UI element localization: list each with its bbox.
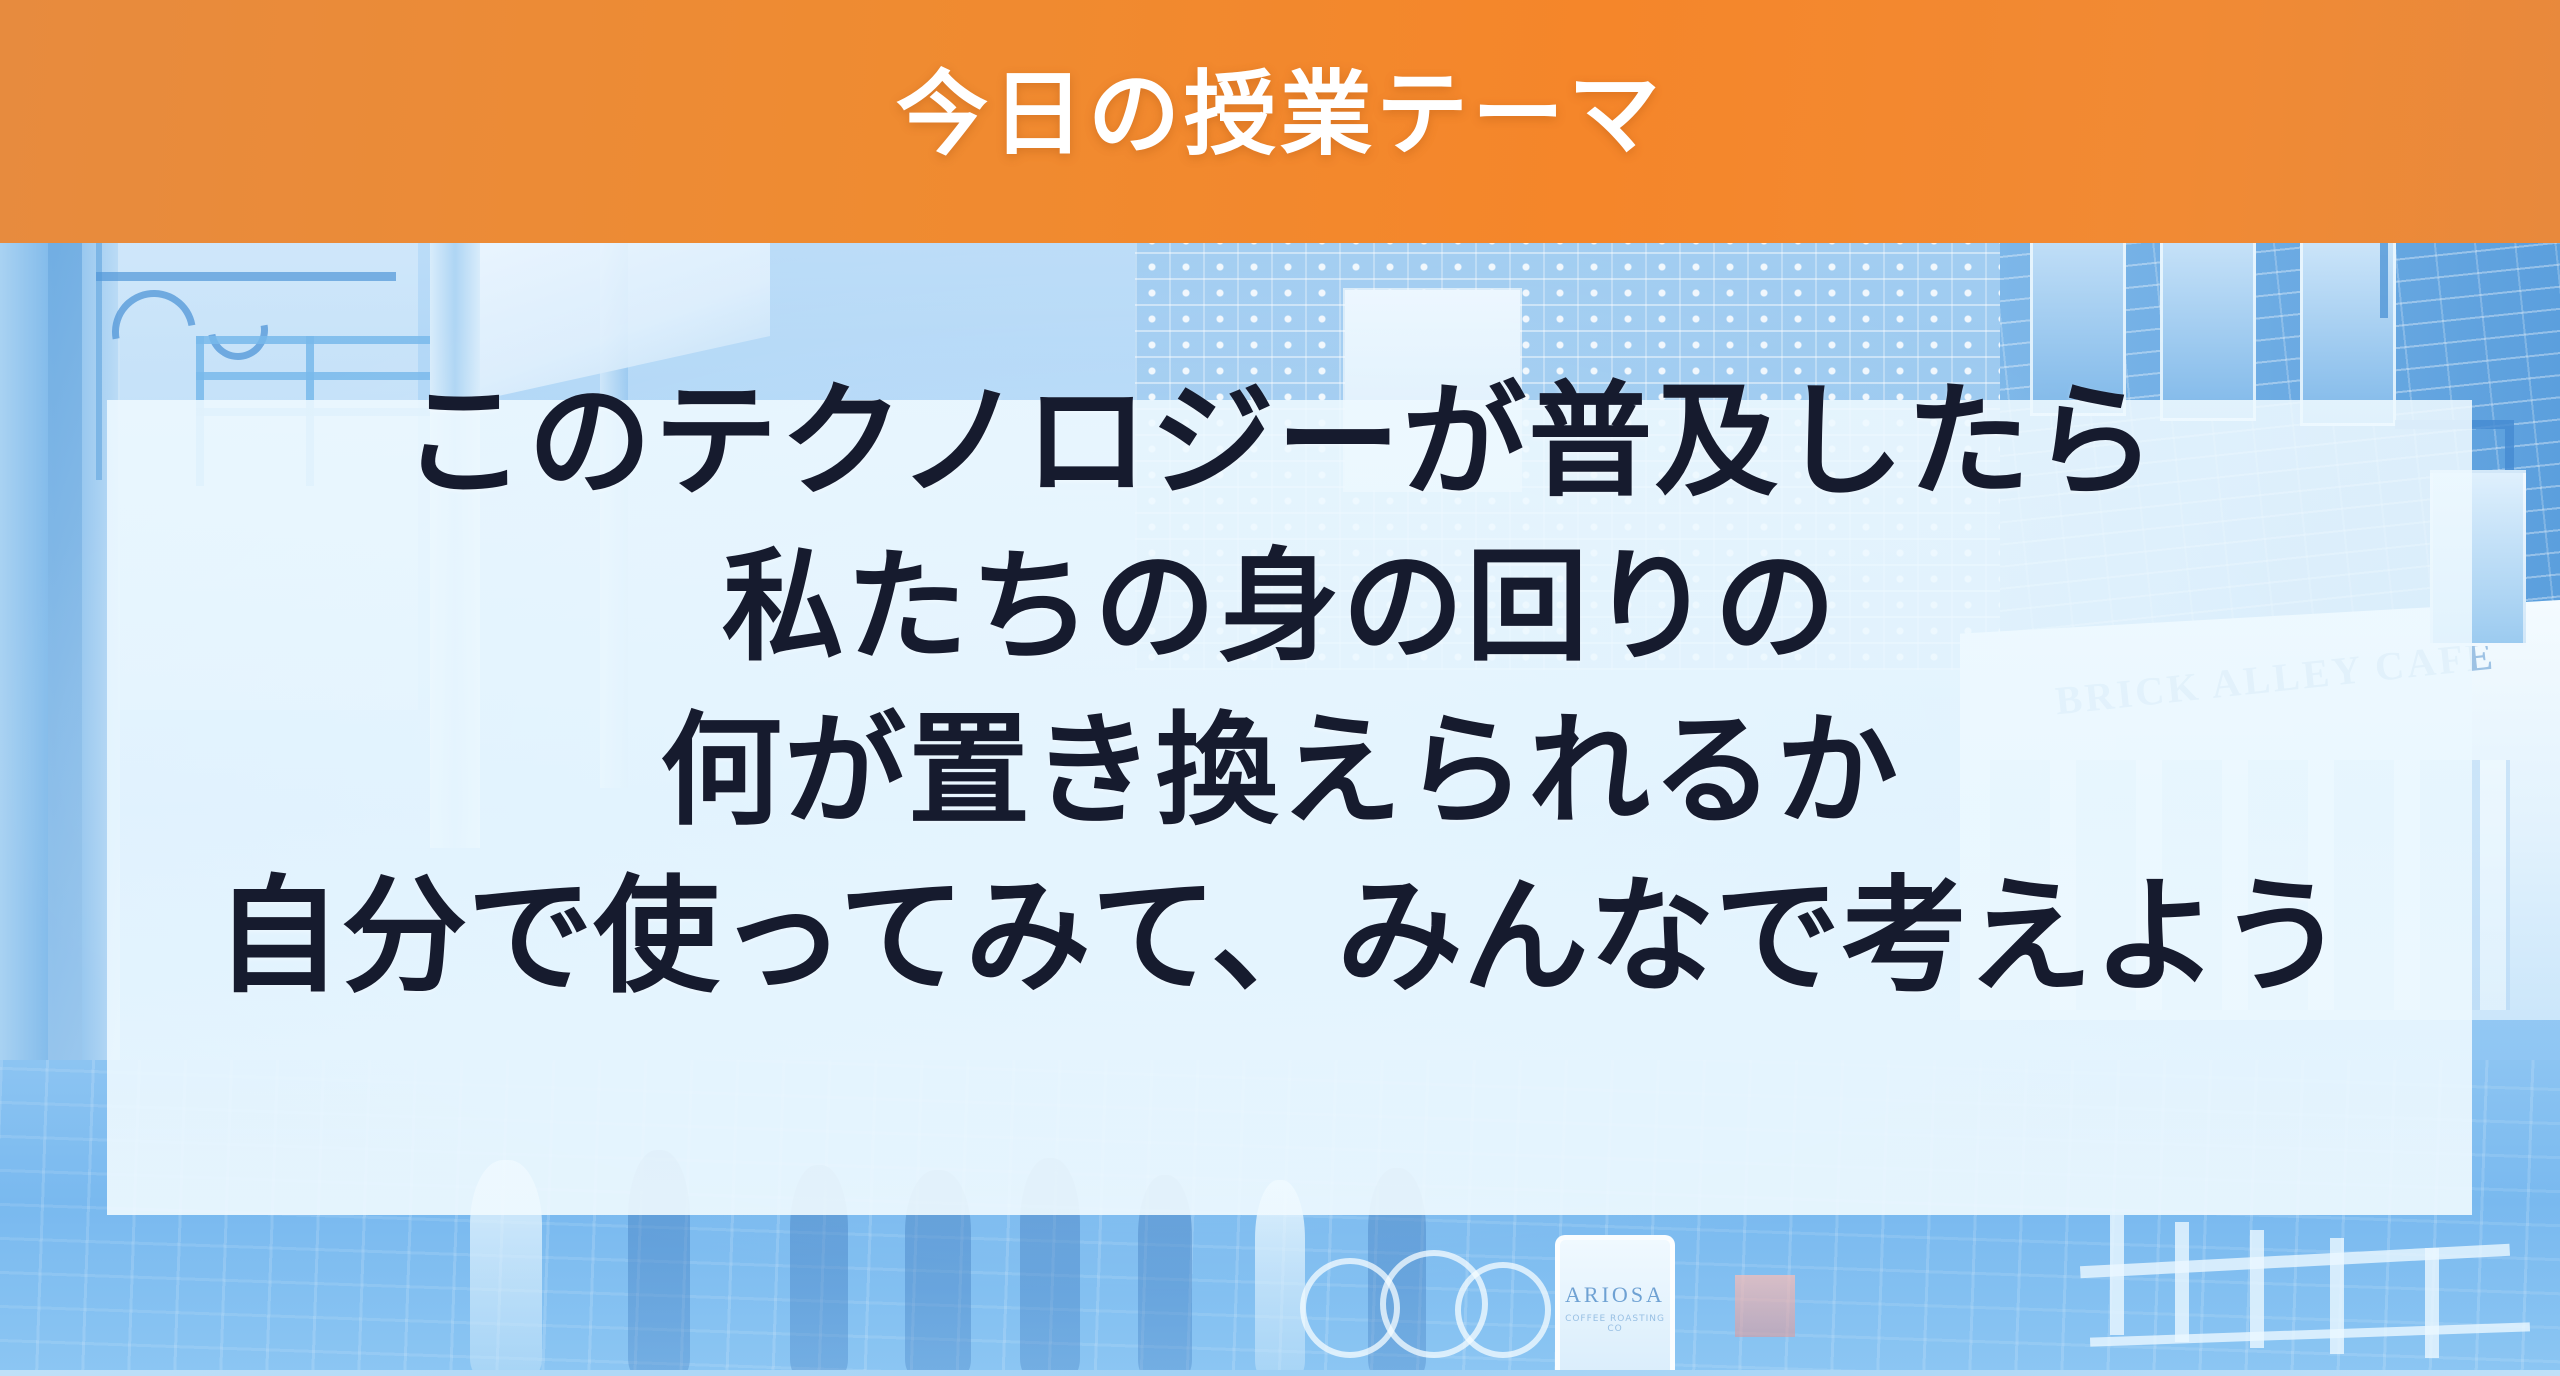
presentation-slide: BRICK ALLEY CAFE ARIOSA COFFEE ROASTING …: [0, 0, 2560, 1376]
theme-line-4: 自分で使ってみて、みんなで考えよう: [0, 874, 2560, 1000]
photo-rail-bar: [96, 272, 396, 281]
theme-line-2: 私たちの身の回りの: [0, 546, 2560, 668]
theme-line-1: このテクノロジーが普及したら: [0, 380, 2560, 504]
photo-bicycle-wheel: [1455, 1262, 1551, 1358]
photo-cafe-chair-back: [2425, 1248, 2439, 1358]
photo-cafe-chair-back: [2175, 1222, 2189, 1342]
photo-cafe-chair-back: [2250, 1230, 2264, 1348]
theme-text-block: このテクノロジーが普及したら 私たちの身の回りの 何が置き換えられるか 自分で使…: [0, 380, 2560, 1000]
photo-sandwich-board: ARIOSA COFFEE ROASTING CO: [1555, 1235, 1675, 1376]
slide-header-band: 今日の授業テーマ: [0, 0, 2560, 243]
photo-bicycle-wheel: [1300, 1258, 1400, 1358]
slide-header-title: 今日の授業テーマ: [896, 69, 1664, 161]
photo-sandwich-board-brand: ARIOSA: [1560, 1282, 1670, 1308]
photo-bottom-edge: [0, 1370, 2560, 1376]
theme-line-3: 何が置き換えられるか: [0, 710, 2560, 832]
photo-sandwich-board-subtitle: COFFEE ROASTING CO: [1560, 1314, 1670, 1334]
photo-cafe-chair-back: [2110, 1215, 2124, 1335]
photo-red-sign: [1735, 1275, 1795, 1337]
